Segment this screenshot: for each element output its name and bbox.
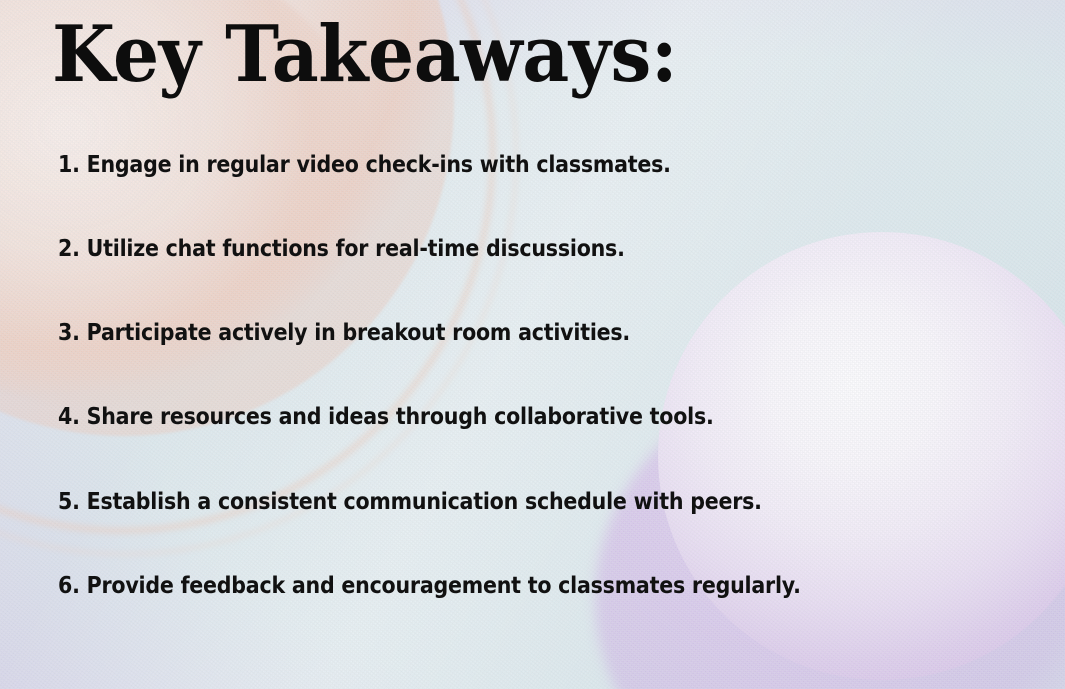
list-item: 2. Utilize chat functions for real-time … [58,236,899,263]
list-item: 3. Participate actively in breakout room… [58,320,899,347]
page-title: Key Takeaways: [52,16,677,94]
list-item: 6. Provide feedback and encouragement to… [58,573,899,600]
takeaway-list: 1. Engage in regular video check-ins wit… [58,152,998,600]
list-item: 1. Engage in regular video check-ins wit… [58,152,899,179]
list-item: 5. Establish a consistent communication … [58,489,899,516]
list-item: 4. Share resources and ideas through col… [58,404,899,431]
slide-canvas: Key Takeaways: 1. Engage in regular vide… [0,0,1065,689]
slide-content: Key Takeaways: 1. Engage in regular vide… [0,0,1065,689]
